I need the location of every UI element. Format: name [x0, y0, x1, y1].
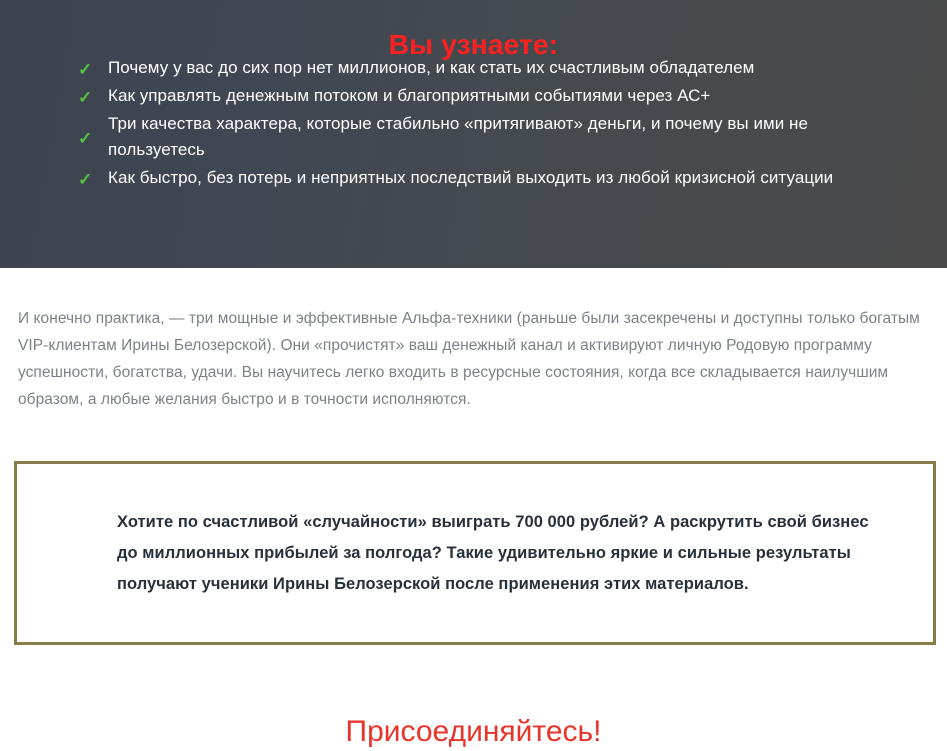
- landing-page: Вы узнаете: ✓ Почему у вас до сих пор не…: [0, 0, 947, 740]
- highlight-text: Хотите по счастливой «случайности» выигр…: [17, 507, 933, 600]
- check-icon: ✓: [78, 89, 100, 106]
- benefit-label: Три качества характера, которые стабильн…: [108, 111, 893, 163]
- benefit-label: Как быстро, без потерь и неприятных посл…: [108, 165, 893, 191]
- intro-paragraph: И конечно практика, — три мощные и эффек…: [18, 305, 930, 413]
- check-icon: ✓: [78, 61, 100, 78]
- list-item: ✓ Три качества характера, которые стабил…: [78, 111, 893, 163]
- benefit-label: Как управлять денежным потоком и благопр…: [108, 83, 893, 109]
- list-item: ✓ Почему у вас до сих пор нет миллионов,…: [78, 55, 893, 81]
- highlight-box: Хотите по счастливой «случайности» выигр…: [14, 461, 936, 645]
- closing-title: Присоединяйтесь!: [0, 713, 947, 751]
- benefits-hero-panel: Вы узнаете: ✓ Почему у вас до сих пор не…: [0, 0, 947, 268]
- list-item: ✓ Как быстро, без потерь и неприятных по…: [78, 165, 893, 191]
- check-icon: ✓: [78, 171, 100, 188]
- check-icon: ✓: [78, 130, 100, 147]
- list-item: ✓ Как управлять денежным потоком и благо…: [78, 83, 893, 109]
- benefit-label: Почему у вас до сих пор нет миллионов, и…: [108, 55, 893, 81]
- benefits-list: ✓ Почему у вас до сих пор нет миллионов,…: [78, 55, 893, 193]
